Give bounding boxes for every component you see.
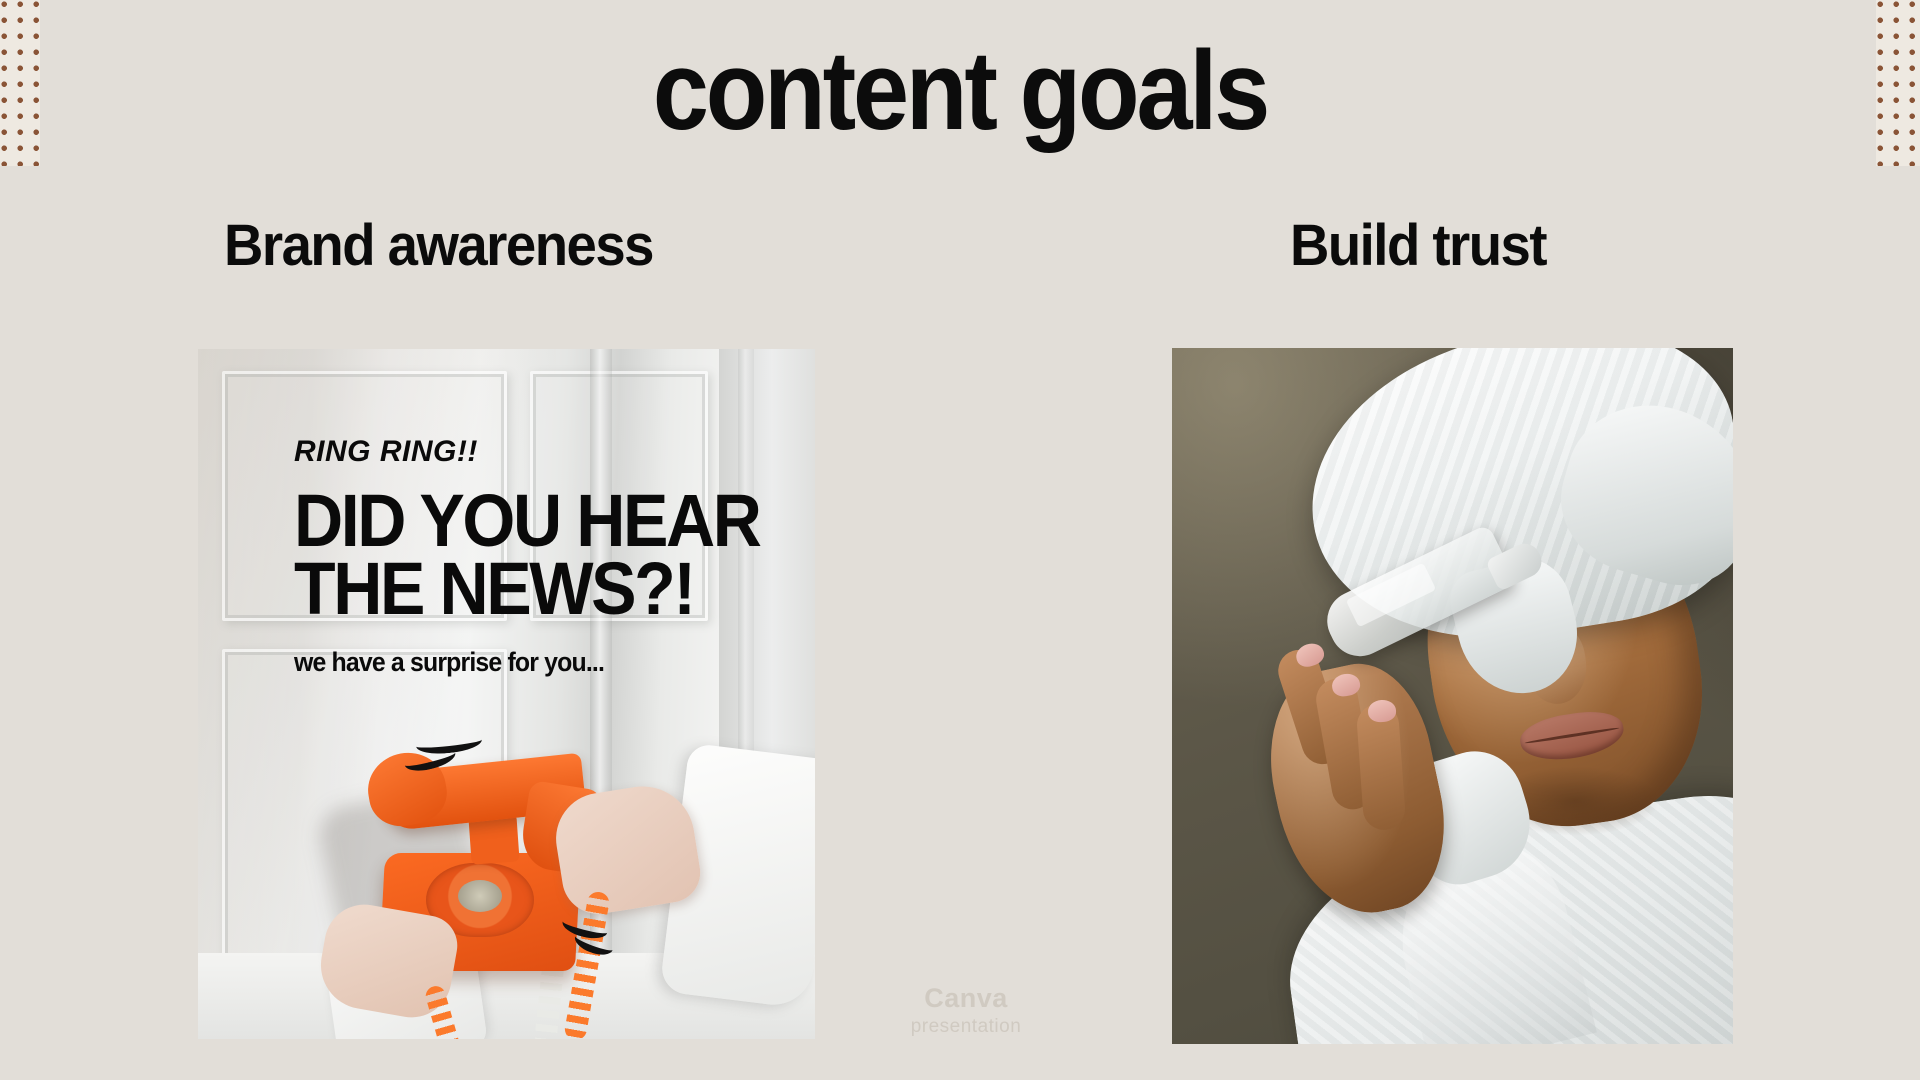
poster-headline-line2: THE NEWS?! [294, 555, 760, 623]
media-brand-awareness[interactable]: RING RING!! DID YOU HEAR THE NEWS?! we h… [198, 349, 815, 1039]
column-heading-build-trust: Build trust [1290, 216, 1546, 277]
dot-grid-left-decoration [0, 0, 40, 166]
dot-grid-right-decoration [1876, 0, 1920, 166]
media-build-trust[interactable] [1172, 348, 1733, 1044]
page-title: content goals [96, 34, 1824, 148]
poster-subline: we have a surprise for you... [294, 647, 604, 678]
watermark-line-2: presentation [846, 1015, 1086, 1038]
watermark-line-1: Canva [846, 982, 1086, 1015]
watermark: Canva presentation [846, 982, 1086, 1038]
column-heading-brand-awareness: Brand awareness [224, 216, 653, 277]
poster-headline: DID YOU HEAR THE NEWS?! [294, 487, 760, 623]
rotary-dial-center [458, 880, 502, 912]
poster-headline-line1: DID YOU HEAR [294, 487, 760, 555]
telephone-illustration [348, 741, 815, 1039]
slide-canvas: content goals Brand awareness Build trus… [0, 0, 1920, 1080]
poster-eyebrow: RING RING!! [294, 435, 478, 469]
